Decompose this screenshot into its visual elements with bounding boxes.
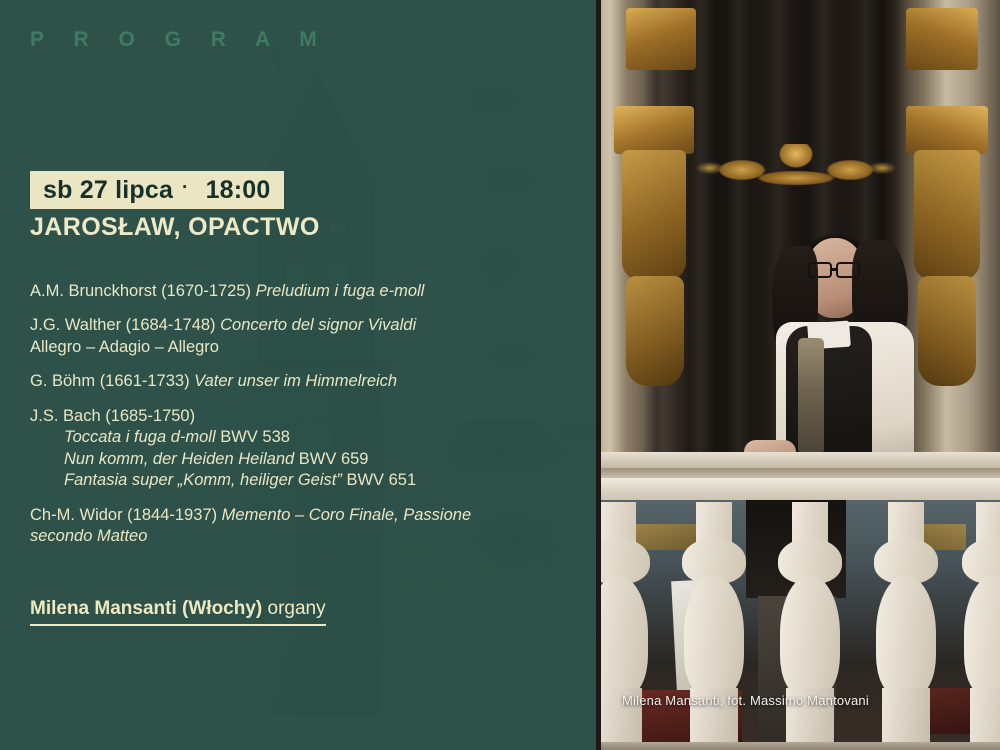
photo-gilded-capital — [626, 8, 696, 70]
photo-baluster — [682, 502, 746, 750]
photo-gilded-caryatid — [914, 150, 980, 280]
photo-gilded-caryatid — [918, 276, 976, 386]
program-item: J.S. Bach (1685-1750) Toccata i fuga d-m… — [30, 406, 530, 492]
photo-baluster — [874, 502, 938, 750]
concert-program-poster: P R O G R A M sb 27 lipca · 18:00 JAROSŁ… — [0, 0, 1000, 750]
work-title: Vater unser im Himmelreich — [194, 372, 397, 390]
panel-photo-divider — [596, 0, 601, 750]
photo-balustrade-cap — [596, 478, 1000, 500]
composer-name: G. Böhm (1661-1733) — [30, 372, 194, 390]
performer-photo: Milena Mansanti, fot. Massimo Mantovani — [596, 0, 1000, 750]
date-time-separator: · — [173, 177, 198, 199]
program-item: A.M. Brunckhorst (1670-1725) Preludium i… — [30, 281, 530, 302]
photo-baluster — [596, 502, 650, 750]
program-item: G. Böhm (1661-1733) Vater unser im Himme… — [30, 371, 530, 392]
work-title: Nun komm, der Heiden Heiland — [64, 450, 294, 468]
program-works-list: A.M. Brunckhorst (1670-1725) Preludium i… — [30, 281, 530, 547]
photo-glasses-right-lens — [836, 262, 860, 278]
photo-glasses-bridge — [832, 268, 838, 271]
photo-credit-caption: Milena Mansanti, fot. Massimo Mantovani — [622, 693, 869, 708]
work-movements: Allegro – Adagio – Allegro — [30, 338, 219, 356]
work-title: Toccata i fuga d-moll — [64, 428, 216, 446]
work-sub-item: Toccata i fuga d-moll BWV 538 — [64, 427, 530, 448]
work-title: Preludium i fuga e-moll — [256, 282, 425, 300]
event-date-banner: sb 27 lipca · 18:00 — [30, 171, 284, 209]
program-item: J.G. Walther (1684-1748) Concerto del si… — [30, 315, 530, 358]
photo-person-scarf — [798, 338, 824, 454]
work-sub-item: Nun komm, der Heiden Heiland BWV 659 — [64, 449, 530, 470]
performer-name: Milena Mansanti (Włochy) — [30, 598, 262, 619]
photo-gilded-scrollwork — [696, 144, 896, 192]
performer-instrument: organy — [262, 598, 325, 619]
photo-baluster — [778, 502, 842, 750]
photo-gilded-capital — [906, 106, 988, 154]
composer-name: A.M. Brunckhorst (1670-1725) — [30, 282, 256, 300]
event-venue-label: JAROSŁAW, OPACTWO — [30, 213, 320, 242]
composer-name: J.G. Walther (1684-1748) — [30, 316, 220, 334]
composer-name: Ch-M. Widor (1844-1937) — [30, 506, 222, 524]
program-panel: P R O G R A M sb 27 lipca · 18:00 JAROSŁ… — [0, 0, 596, 750]
photo-balustrade-plinth — [596, 742, 1000, 750]
work-title: Concerto del signor Vivaldi — [220, 316, 416, 334]
work-catalog: BWV 659 — [294, 450, 368, 468]
photo-baluster — [962, 502, 1000, 750]
photo-gilded-caryatid — [626, 276, 684, 386]
event-date-text: sb 27 lipca — [43, 176, 173, 205]
photo-gilded-capital — [906, 8, 978, 70]
work-catalog: BWV 538 — [216, 428, 290, 446]
work-catalog: BWV 651 — [342, 471, 416, 489]
program-item: Ch-M. Widor (1844-1937) Memento – Coro F… — [30, 505, 530, 548]
photo-gilded-caryatid — [622, 150, 686, 280]
photo-gilded-capital — [614, 106, 694, 154]
program-kicker-label: P R O G R A M — [30, 28, 329, 52]
photo-glasses-left-lens — [808, 262, 832, 278]
work-sub-item: Fantasia super „Komm, heiliger Geist” BW… — [64, 470, 530, 491]
composer-name: J.S. Bach (1685-1750) — [30, 407, 195, 425]
program-content: P R O G R A M sb 27 lipca · 18:00 JAROSŁ… — [0, 0, 596, 750]
work-title: Fantasia super „Komm, heiliger Geist” — [64, 471, 342, 489]
photo-gallery-rail — [596, 452, 1000, 468]
photo-gallery-rail-shadow — [596, 468, 1000, 478]
performer-credit: Milena Mansanti (Włochy) organy — [30, 598, 326, 626]
event-time-text: 18:00 — [198, 176, 271, 205]
